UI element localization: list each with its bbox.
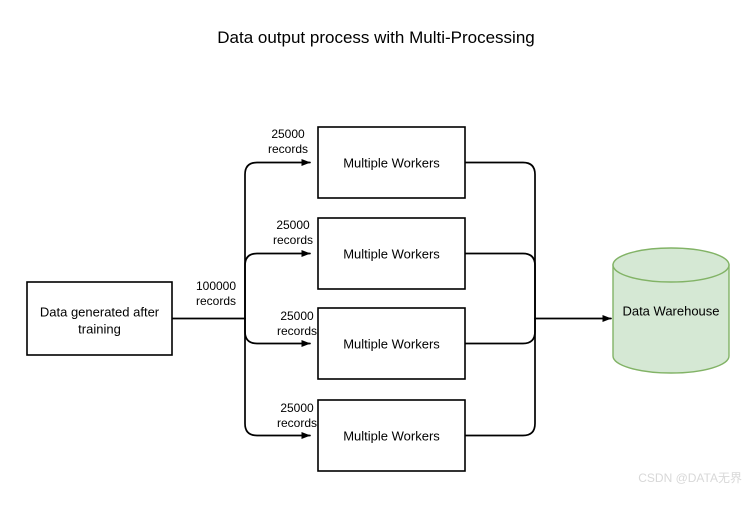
worker-label: Multiple Workers bbox=[343, 429, 440, 444]
edge-worker-4-to-warehouse bbox=[465, 319, 535, 436]
diagram-svg: Data output process with Multi-Processin… bbox=[0, 0, 752, 500]
edge-worker-1-to-warehouse bbox=[465, 163, 535, 319]
worker-label: Multiple Workers bbox=[343, 247, 440, 262]
edge-label-main: 100000records bbox=[196, 279, 236, 308]
warehouse-cylinder-top bbox=[613, 248, 729, 282]
node-data-warehouse[interactable]: Data Warehouse bbox=[613, 248, 729, 373]
worker-label: Multiple Workers bbox=[343, 156, 440, 171]
watermark: CSDN @DATA无界 bbox=[638, 471, 742, 485]
node-source-data-generated[interactable]: Data generated aftertraining bbox=[27, 282, 172, 355]
node-worker-2[interactable]: Multiple Workers bbox=[318, 218, 465, 289]
warehouse-label: Data Warehouse bbox=[622, 304, 719, 319]
nodes-layer: Data generated aftertrainingMultiple Wor… bbox=[27, 127, 729, 471]
node-worker-4[interactable]: Multiple Workers bbox=[318, 400, 465, 471]
edge-label-worker-3: 25000records bbox=[277, 309, 317, 338]
page-title: Data output process with Multi-Processin… bbox=[217, 28, 534, 47]
node-worker-3[interactable]: Multiple Workers bbox=[318, 308, 465, 379]
flow-diagram-canvas: Data output process with Multi-Processin… bbox=[0, 0, 752, 500]
edge-label-worker-4: 25000records bbox=[277, 401, 317, 430]
node-worker-1[interactable]: Multiple Workers bbox=[318, 127, 465, 198]
worker-label: Multiple Workers bbox=[343, 337, 440, 352]
edge-label-worker-1: 25000records bbox=[268, 127, 308, 156]
edge-worker-3-to-warehouse bbox=[465, 319, 535, 344]
edge-label-worker-2: 25000records bbox=[273, 218, 313, 247]
edge-worker-2-to-warehouse bbox=[465, 254, 535, 319]
